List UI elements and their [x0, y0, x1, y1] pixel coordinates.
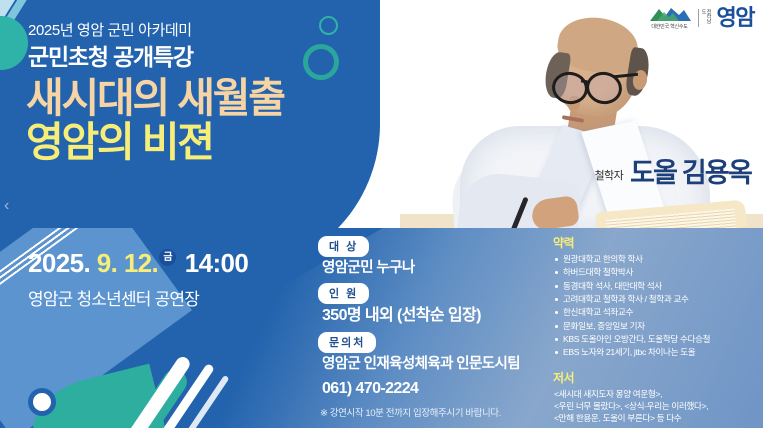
- books-line: <만해 한용운, 도올이 부른다> 등 다수: [554, 412, 759, 424]
- info-item-capacity: 인 원 350명 내외 (선착순 입장): [318, 283, 546, 326]
- headline-block: 2025년 영암 군민 아카데미 군민초청 공개특강 새시대의 새월출 영암의 …: [26, 22, 346, 164]
- bio-item: 동경대학 석사, 대만대학 석사: [554, 280, 759, 293]
- speaker-bio-column: 약력 원광대학교 한의학 학사 하버드대학 철학박사 동경대학 석사, 대만대학…: [553, 234, 759, 425]
- info-value-contact-phone: 061) 470-2224: [322, 379, 546, 399]
- speaker-portrait-photo: [400, 0, 763, 228]
- event-date-line: 2025. 9. 12. 금 14:00: [28, 250, 248, 278]
- event-year: 2025.: [28, 250, 90, 276]
- poster-title-line-1: 새시대의 새월출: [26, 78, 346, 120]
- bio-item: 원광대학교 한의학 학사: [554, 253, 759, 266]
- yeongam-county-logo: 대한민국 혁신수도 전라남도 영암: [648, 5, 754, 30]
- speaker-name-block: 철학자 도올 김용옥: [595, 160, 751, 187]
- event-day: 12.: [124, 250, 158, 276]
- program-subhead: 군민초청 공개특강: [28, 45, 346, 70]
- bio-item: EBS 노자와 21세기, jtbc 차이나는 도올: [554, 346, 759, 359]
- info-value-contact-dept: 영암군 인재육성체육과 인문도시팀: [322, 355, 546, 373]
- speaker-name: 도올 김용옥: [630, 160, 751, 187]
- event-venue: 영암군 청소년센터 공연장: [28, 285, 248, 310]
- info-label-contact: 문의처: [318, 332, 376, 353]
- mountain-icon: [648, 5, 692, 22]
- bio-item: 문화일보, 중앙일보 기자: [554, 320, 759, 333]
- event-info-column: 대 상 영암군민 누구나 인 원 350명 내외 (선착순 입장) 문의처 영암…: [318, 236, 546, 419]
- event-day-of-week-badge: 금: [159, 249, 176, 266]
- info-label-audience: 대 상: [318, 236, 369, 257]
- bio-item: KBS 도올아인 오방간다, 도올학당 수다승철: [554, 333, 759, 346]
- info-item-contact: 문의처 영암군 인재육성체육과 인문도시팀 061) 470-2224: [318, 332, 546, 399]
- bio-heading: 약력: [553, 234, 759, 251]
- logo-slogan: 대한민국 혁신수도: [651, 23, 687, 30]
- poster-title-line-2: 영암의 비젼: [26, 122, 346, 164]
- event-poster: 2025년 영암 군민 아카데미 군민초청 공개특강 새시대의 새월출 영암의 …: [0, 0, 763, 428]
- logo-province-tag: 전라남도: [698, 9, 711, 27]
- entry-note: ※ 강연시작 10분 전까지 입장해주시기 바랍니다.: [320, 405, 546, 419]
- logo-mountain-icon: 대한민국 혁신수도: [648, 5, 692, 30]
- poster-top-section: 2025년 영암 군민 아카데미 군민초청 공개특강 새시대의 새월출 영암의 …: [0, 0, 763, 228]
- info-value-capacity: 350명 내외 (선착순 입장): [322, 306, 546, 326]
- bio-list: 원광대학교 한의학 학사 하버드대학 철학박사 동경대학 석사, 대만대학 석사…: [554, 253, 759, 360]
- bio-item: 고려대학교 철학과 학사 / 철학과 교수: [554, 293, 759, 306]
- info-label-capacity: 인 원: [318, 283, 369, 304]
- info-value-audience: 영암군민 누구나: [322, 259, 546, 277]
- event-schedule-block: 2025. 9. 12. 금 14:00 영암군 청소년센터 공연장: [28, 250, 248, 310]
- books-line: <우린 너무 몰랐다>, <상식-우리는 이러했다>,: [554, 400, 759, 412]
- poster-bottom-section: 2025. 9. 12. 금 14:00 영암군 청소년센터 공연장 대 상 영…: [0, 228, 763, 428]
- decor-ring-bottom-icon: [28, 388, 56, 416]
- event-month: 9.: [97, 250, 117, 276]
- bio-item: 하버드대학 철학박사: [554, 266, 759, 279]
- speaker-role: 철학자: [595, 167, 624, 187]
- books-line: <새시대 새지도자 몽양 여운형>,: [554, 388, 759, 400]
- bio-item: 한신대학교 석좌교수: [554, 306, 759, 319]
- chevron-left-icon: ‹: [4, 198, 9, 214]
- info-item-audience: 대 상 영암군민 누구나: [318, 236, 546, 277]
- logo-wordmark: 영암: [717, 7, 754, 29]
- program-kicker: 2025년 영암 군민 아카데미: [28, 22, 346, 40]
- books-heading: 저서: [553, 369, 759, 386]
- event-time: 14:00: [185, 250, 249, 276]
